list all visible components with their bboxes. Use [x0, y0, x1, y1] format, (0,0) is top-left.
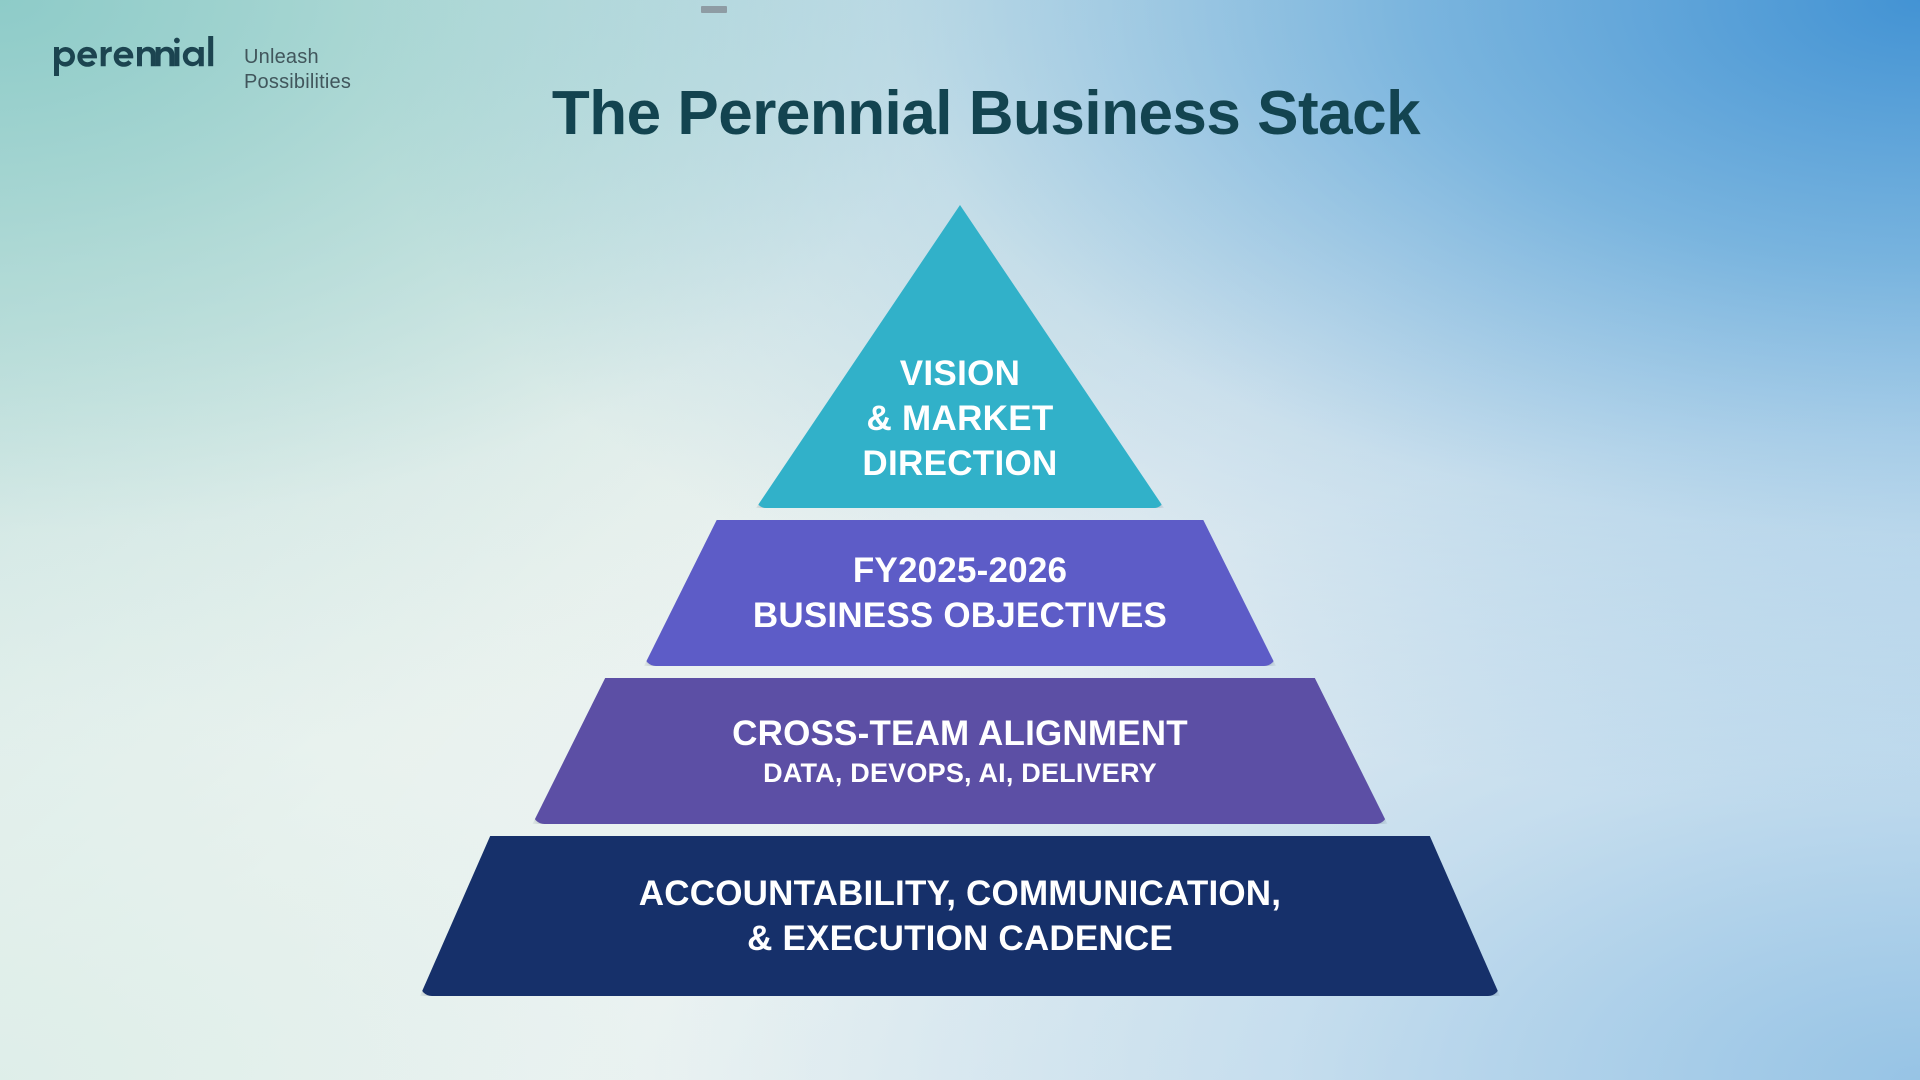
brand-tagline-line1: Unleash: [244, 45, 351, 70]
tier-1-line-1: VISION: [900, 351, 1020, 396]
pyramid-tier-2-objectives[interactable]: FY2025-2026 BUSINESS OBJECTIVES: [644, 520, 1276, 666]
pyramid-tier-3-alignment[interactable]: CROSS-TEAM ALIGNMENT DATA, DEVOPS, AI, D…: [533, 678, 1388, 824]
perennial-wordmark-icon: [52, 34, 228, 78]
tier-2-line-1: FY2025-2026: [853, 548, 1067, 593]
tier-1-line-2: & MARKET: [866, 396, 1053, 441]
tier-3-subheading: DATA, DEVOPS, AI, DELIVERY: [763, 755, 1157, 791]
tier-3-heading: CROSS-TEAM ALIGNMENT: [732, 712, 1188, 755]
tier-4-line-2: & EXECUTION CADENCE: [747, 916, 1173, 961]
pyramid-tier-1-vision[interactable]: VISION & MARKET DIRECTION: [756, 205, 1164, 508]
tier-1-line-3: DIRECTION: [862, 441, 1057, 486]
pyramid-diagram: VISION & MARKET DIRECTION FY2025-2026 BU…: [0, 205, 1920, 1005]
top-edge-artifact: [701, 6, 727, 13]
tier-2-line-2: BUSINESS OBJECTIVES: [753, 593, 1167, 638]
tier-4-line-1: ACCOUNTABILITY, COMMUNICATION,: [639, 871, 1281, 916]
page-title: The Perennial Business Stack: [0, 78, 1920, 150]
pyramid-tier-4-accountability[interactable]: ACCOUNTABILITY, COMMUNICATION, & EXECUTI…: [420, 836, 1500, 996]
slide-canvas: Unleash Possibilities The Perennial Busi…: [0, 0, 1920, 1080]
